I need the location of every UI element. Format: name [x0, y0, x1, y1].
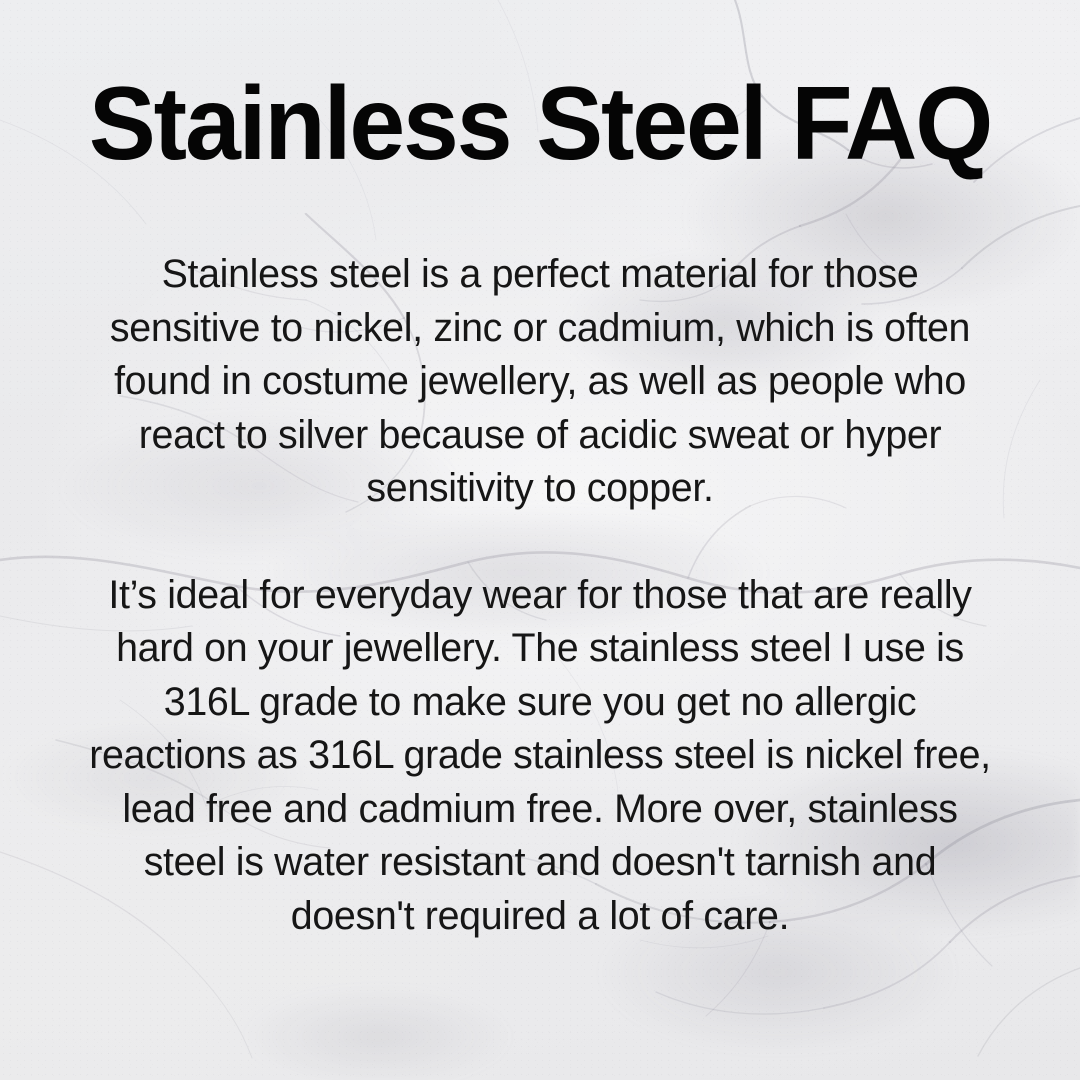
paragraph-one: Stainless steel is a perfect material fo…	[38, 248, 1043, 516]
paragraph-two-line-4: reactions as 316L grade stainless steel …	[38, 729, 1043, 783]
paragraph-one-line-5: sensitivity to copper.	[38, 462, 1043, 516]
paragraph-two: It’s ideal for everyday wear for those t…	[38, 569, 1043, 944]
page-title: Stainless Steel FAQ	[19, 72, 1061, 176]
paragraph-one-line-3: found in costume jewellery, as well as p…	[38, 355, 1043, 409]
paragraph-one-line-4: react to silver because of acidic sweat …	[38, 409, 1043, 463]
paragraph-two-line-6: steel is water resistant and doesn't tar…	[38, 836, 1043, 890]
paragraph-two-line-3: 316L grade to make sure you get no aller…	[38, 676, 1043, 730]
body-copy: Stainless steel is a perfect material fo…	[30, 248, 1050, 943]
paragraph-one-line-2: sensitive to nickel, zinc or cadmium, wh…	[38, 302, 1043, 356]
paragraph-two-line-2: hard on your jewellery. The stainless st…	[38, 622, 1043, 676]
content-area: Stainless Steel FAQ Stainless steel is a…	[0, 0, 1080, 1080]
paragraph-two-line-1: It’s ideal for everyday wear for those t…	[38, 569, 1043, 623]
paragraph-one-line-1: Stainless steel is a perfect material fo…	[38, 248, 1043, 302]
faq-graphic-canvas: Stainless Steel FAQ Stainless steel is a…	[0, 0, 1080, 1080]
paragraph-two-line-5: lead free and cadmium free. More over, s…	[38, 783, 1043, 837]
paragraph-two-line-7: doesn't required a lot of care.	[38, 890, 1043, 944]
